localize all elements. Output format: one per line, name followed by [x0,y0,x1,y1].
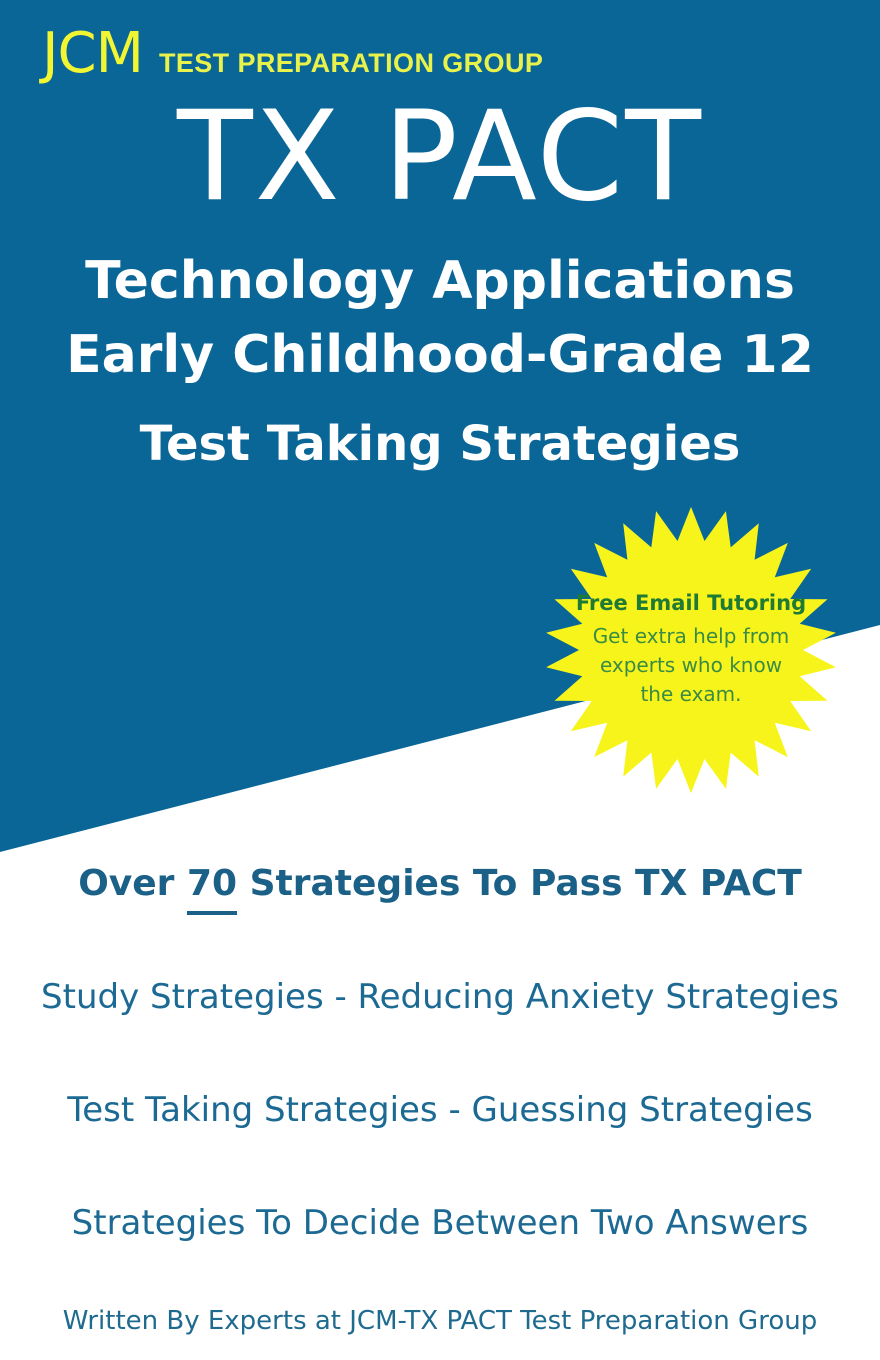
feature-line-two-answers: Strategies To Decide Between Two Answers [0,1203,880,1244]
feature-line-study-anxiety: Study Strategies - Reducing Anxiety Stra… [0,977,880,1018]
author-credit: Written By Experts at JCM-TX PACT Test P… [0,1306,880,1337]
publisher-logo-name: TEST PREPARATION GROUP [159,50,543,77]
exam-title: TX PACT [0,92,880,222]
feature-headline: Over 70 Strategies To Pass TX PACT [0,862,880,905]
subtitle-line-grade-range: Early Childhood-Grade 12 [0,322,880,390]
publisher-logo: JCM TEST PREPARATION GROUP [42,26,543,82]
subtitle-block: Technology Applications Early Childhood-… [0,248,880,476]
subtitle-line-topic: Test Taking Strategies [0,413,880,475]
badge-body-line-2: experts who know [600,651,782,680]
feature-list: Over 70 Strategies To Pass TX PACT Study… [0,862,880,1337]
subtitle-line-subject: Technology Applications [0,248,880,316]
starburst-badge-content: Free Email Tutoring Get extra help from … [543,506,839,794]
feature-headline-count: 70 [187,862,237,905]
publisher-logo-mark: JCM [42,26,143,82]
book-cover: JCM TEST PREPARATION GROUP TX PACT Techn… [0,0,880,1360]
badge-body-line-1: Get extra help from [593,622,790,651]
badge-title: Free Email Tutoring [576,591,806,616]
feature-headline-suffix: Strategies To Pass TX PACT [237,863,802,904]
feature-headline-prefix: Over [78,863,187,904]
badge-body-line-3: the exam. [640,680,741,709]
feature-line-test-guessing: Test Taking Strategies - Guessing Strate… [0,1090,880,1131]
